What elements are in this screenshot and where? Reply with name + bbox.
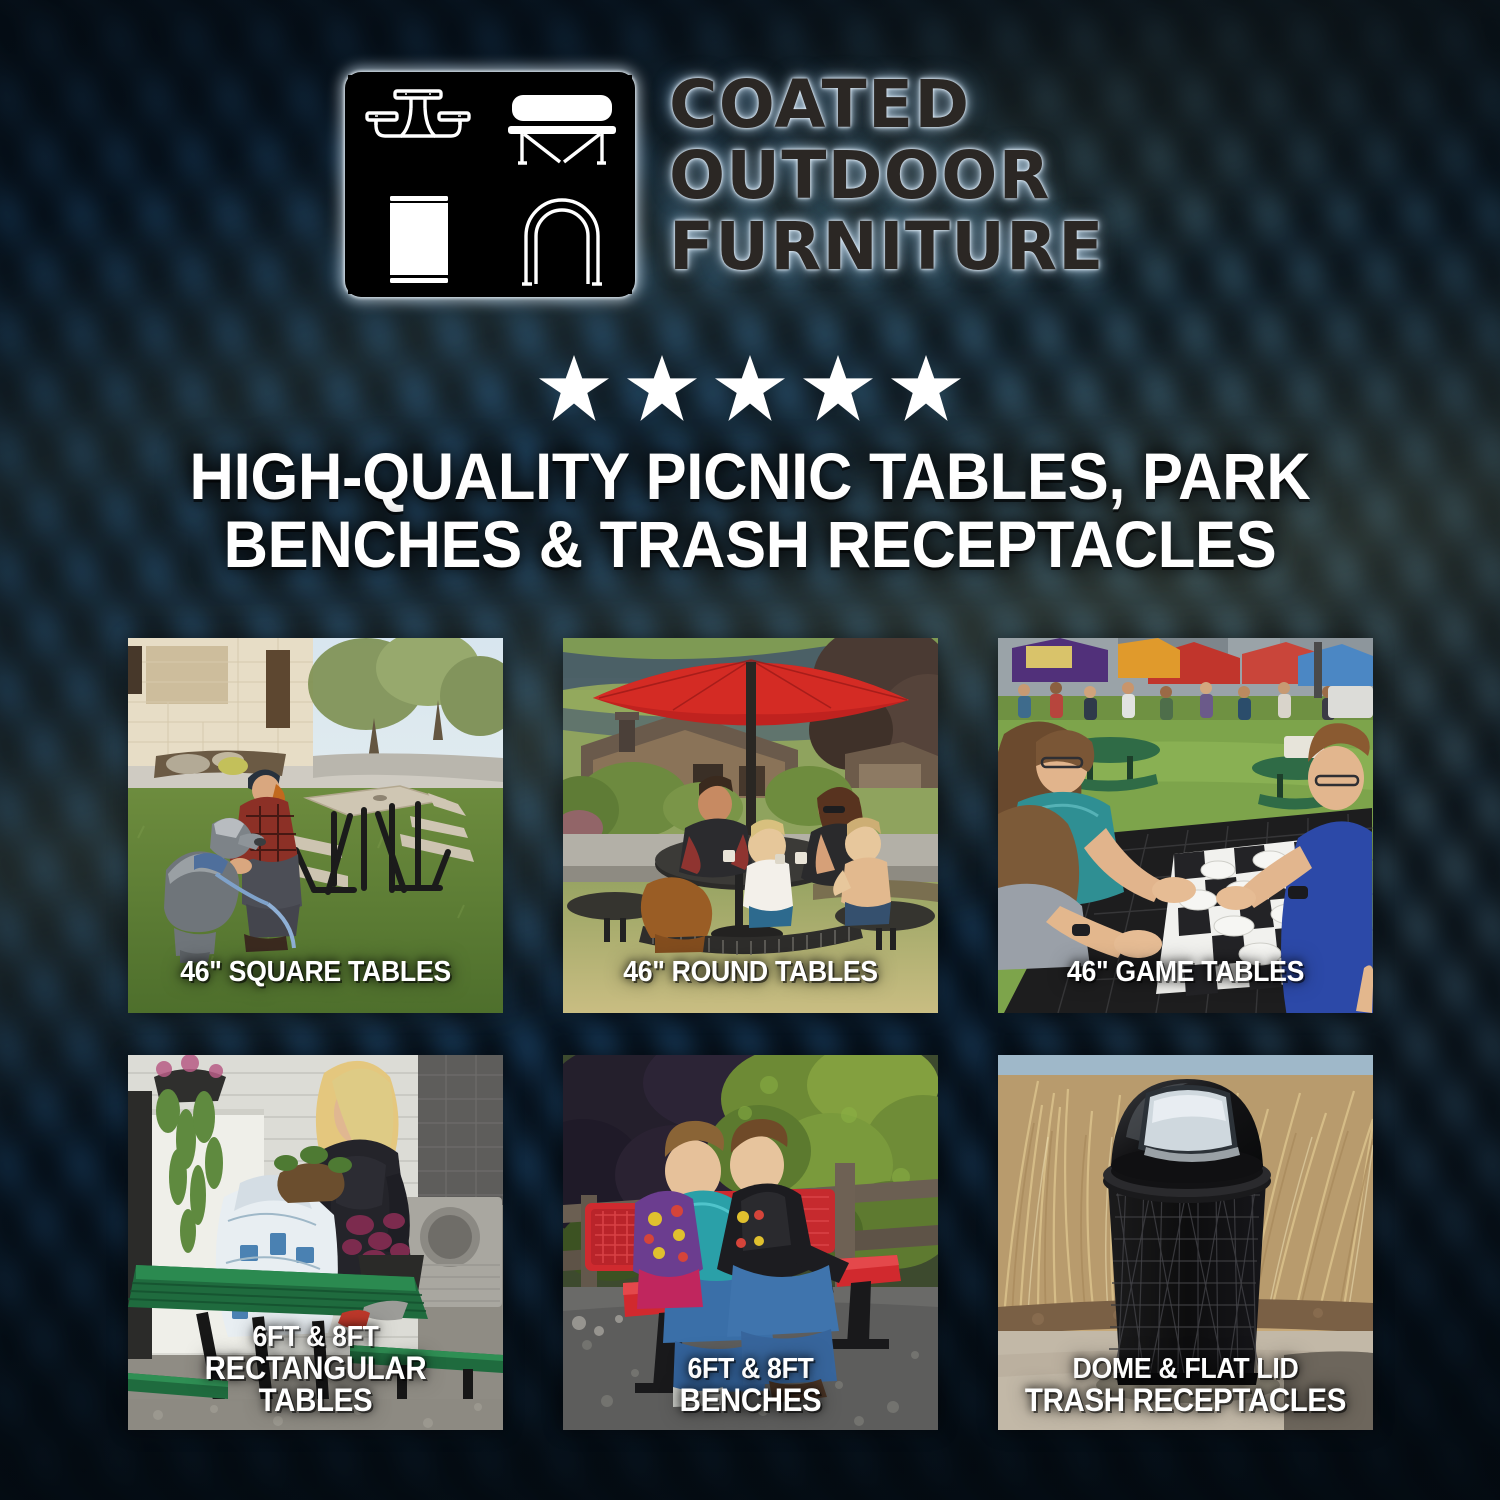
brand-line-2: OUTDOOR	[669, 145, 1105, 207]
product-tile-rectangular-tables[interactable]: 6FT & 8FT RECTANGULAR TABLES	[128, 1055, 503, 1430]
headline-line-2: BENCHES & TRASH RECEPTACLES	[108, 511, 1391, 579]
caption-line-2: BENCHES	[584, 1384, 918, 1416]
product-tile-benches[interactable]: 6FT & 8FT BENCHES	[563, 1055, 938, 1430]
caption-line-1: 46" SQUARE TABLES	[180, 956, 451, 988]
product-tile-round-tables[interactable]: 46" ROUND TABLES	[563, 638, 938, 1013]
star-icon	[715, 355, 785, 421]
tile-caption: DOME & FLAT LID TRASH RECEPTACLES	[1019, 1355, 1353, 1416]
headline: HIGH-QUALITY PICNIC TABLES, PARK BENCHES…	[108, 443, 1391, 579]
park-bench-icon	[492, 75, 632, 183]
headline-line-1: HIGH-QUALITY PICNIC TABLES, PARK	[108, 443, 1391, 511]
product-grid: 46" SQUARE TABLES	[128, 638, 1373, 1430]
tile-caption: 46" SQUARE TABLES	[149, 958, 483, 987]
star-icon	[891, 355, 961, 421]
trash-receptacle-icon	[348, 187, 488, 295]
tile-caption: 46" ROUND TABLES	[584, 958, 918, 987]
bike-rack-icon	[492, 187, 632, 295]
product-tile-square-tables[interactable]: 46" SQUARE TABLES	[128, 638, 503, 1013]
tile-caption: 6FT & 8FT BENCHES	[584, 1355, 918, 1416]
brand-line-3: FURNITURE	[669, 216, 1105, 278]
tile-caption: 6FT & 8FT RECTANGULAR TABLES	[149, 1323, 483, 1416]
picnic-table-icon	[348, 75, 488, 183]
star-icon	[803, 355, 873, 421]
star-rating	[0, 355, 1500, 421]
brand-logo: COATED OUTDOOR FURNITURE	[345, 72, 1105, 297]
caption-line-1: 46" GAME TABLES	[1067, 956, 1304, 988]
product-tile-game-tables[interactable]: 46" GAME TABLES	[998, 638, 1373, 1013]
caption-line-2: RECTANGULAR TABLES	[149, 1352, 483, 1416]
star-icon	[627, 355, 697, 421]
star-icon	[539, 355, 609, 421]
caption-line-1: 6FT & 8FT	[687, 1353, 813, 1385]
caption-line-1: 46" ROUND TABLES	[623, 956, 878, 988]
tile-caption: 46" GAME TABLES	[1019, 958, 1353, 987]
caption-line-1: 6FT & 8FT	[252, 1321, 378, 1353]
caption-line-2: TRASH RECEPTACLES	[1019, 1384, 1353, 1416]
brand-wordmark: COATED OUTDOOR FURNITURE	[669, 72, 1105, 278]
brand-line-1: COATED	[669, 74, 1105, 136]
logo-mark	[345, 72, 635, 297]
caption-line-1: DOME & FLAT LID	[1073, 1353, 1299, 1385]
product-tile-trash-receptacles[interactable]: DOME & FLAT LID TRASH RECEPTACLES	[998, 1055, 1373, 1430]
promo-graphic: COATED OUTDOOR FURNITURE HIGH-QUALITY PI…	[0, 0, 1500, 1500]
